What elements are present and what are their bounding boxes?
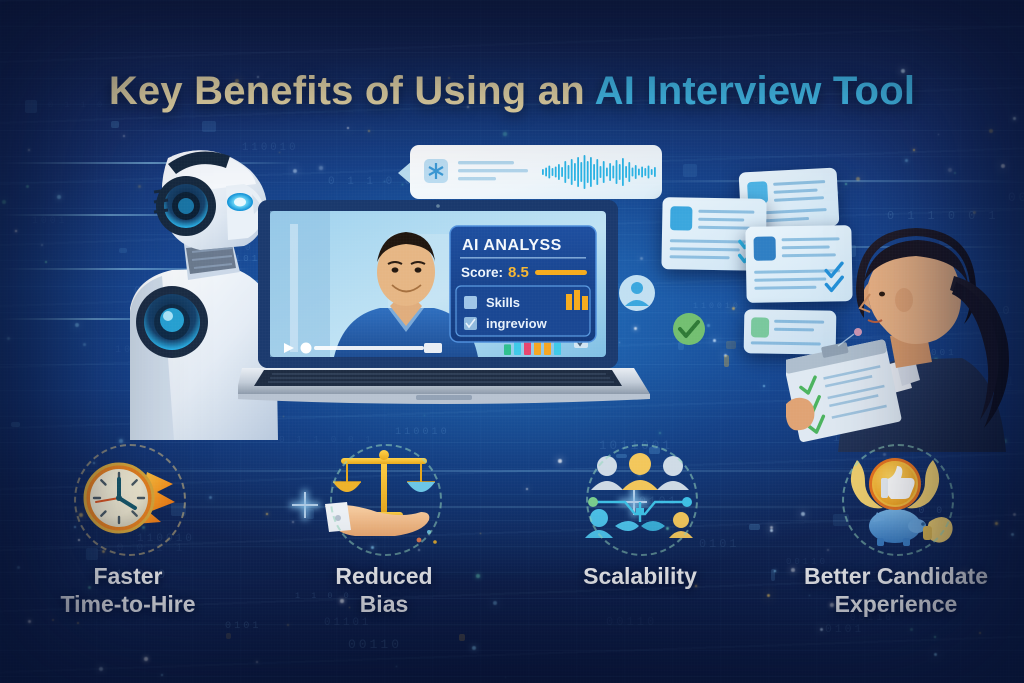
benefit-reduced-bias[interactable]: Reduced Bias [256,446,512,636]
thumbs-up-medal-icon [837,446,955,550]
ai-analysis-panel: AI ANALYSS Score: 8.5 Skills ingreviow [450,226,596,342]
page-title-part-1: Key Benefits of Using an [109,69,595,113]
benefit-label: Scalability [583,562,697,590]
benefit-label: Better Candidate Experience [804,562,988,618]
benefit-label: Faster Time-to-Hire [60,562,195,618]
svg-text:Skills: Skills [486,295,520,310]
benefits-row: Faster Time-to-Hire [0,446,1024,636]
benefit-scalability[interactable]: Scalability [512,446,768,636]
page-title-part-2: AI Interview Tool [595,69,915,113]
svg-text:Score:: Score: [461,265,503,280]
svg-text:ingreviow: ingreviow [486,316,548,331]
benefit-faster-time-to-hire[interactable]: Faster Time-to-Hire [0,446,256,636]
clock-flame-icon [69,446,187,550]
svg-text:8.5: 8.5 [508,264,529,281]
candidate-card [739,167,840,230]
benefit-label: Reduced Bias [335,562,432,618]
laptop-video-interview: AI ANALYSS Score: 8.5 Skills ingreviow [238,200,650,412]
infographic-canvas: 1 1 0 010110010101001101100101 1 0 01100… [0,0,1024,683]
verified-check-badge [672,312,706,346]
people-network-icon [581,446,699,550]
benefit-better-candidate-experience[interactable]: Better Candidate Experience [768,446,1024,636]
scales-on-hand-icon [325,446,443,550]
page-title: Key Benefits of Using an AI Interview To… [0,69,1024,114]
transcription-bubble [398,143,664,205]
recruiter-illustration [786,228,1024,452]
check-icon [737,246,757,264]
candidate-card [661,197,766,271]
svg-text:AI ANALYSS: AI ANALYSS [462,237,562,254]
check-icon [738,232,758,250]
